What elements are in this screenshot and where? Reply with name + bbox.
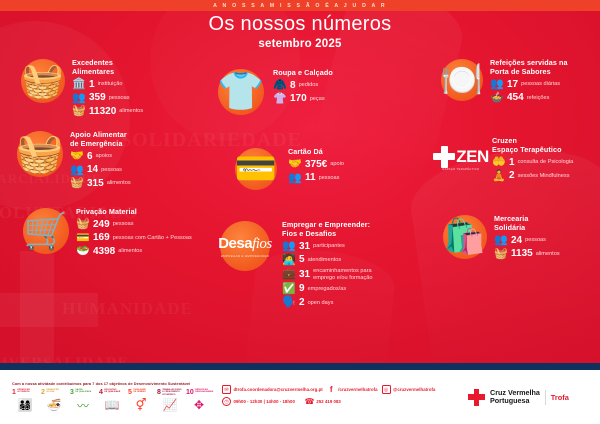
tagline-text: A N O S S A M I S S Ã O É A J U D A R (213, 3, 387, 9)
stat-row: 🗣️2open days (282, 297, 422, 308)
stats-block-roupa-e-calcado: 👕Roupa e Calçado🧥8pedidos👚170peças (215, 66, 378, 118)
sdg-goal-1: 1ERRADICAR A POBREZA👨‍👩‍👧‍👦 (12, 389, 38, 413)
stat-row: 🏛️1instituição (72, 79, 190, 90)
contact-instagram[interactable]: ◎ @cruzvermelhatrofa (382, 385, 436, 394)
people-icon: 👥 (70, 165, 84, 176)
fruit-basket-icon: 🧺 (14, 128, 66, 180)
contacts-row-2: ◷ 09h00 - 12h30 | 14h00 - 18h00 ☎ 252 41… (222, 397, 468, 406)
stat-number: 6 (87, 152, 93, 162)
sdg-goal-3: 3SAÚDE DE QUALIDADE〰 (70, 389, 96, 413)
sdg-label: REDUZIR AS DESIGUALDADES (195, 389, 213, 394)
stat-row: 🧺315alimentos (70, 178, 188, 189)
stat-row: 👥11pessoas (288, 173, 393, 184)
desafios-logo: DesafiosEMPREGAR E EMPREENDER (218, 235, 272, 258)
contacts-row-1: ✉ dtrofa.coordenadora@cruzvermelha.org.p… (222, 385, 468, 394)
stat-label: refeições (527, 95, 550, 102)
navy-divider-band (0, 363, 600, 370)
groceries-card-icon-glyph: 🛒 (24, 213, 69, 249)
block-title: Apoio Alimentar de Emergência (70, 130, 188, 148)
sdg-goal-5: 5IGUALDADE DE GÉNERO⚥ (128, 389, 154, 413)
stat-label: pedidos (299, 82, 319, 89)
food-crate-icon: 🧺 (70, 178, 84, 189)
hanger-icon: 🧥 (273, 80, 287, 91)
stat-row: 🤝375€apoio (288, 159, 393, 170)
cruzen-zen-logo: ZENESPAÇO TERAPÊUTICO (433, 146, 489, 171)
stats-block-refeicoes-porta-de-sabores: 🍽️Refeições servidas na Porta de Sabores… (438, 56, 600, 104)
stat-label: atendimentos (308, 257, 342, 264)
stat-label: peças (310, 96, 325, 103)
stat-label: alimentos (118, 248, 142, 255)
stat-label: encaminhamentos para emprego e/ou formaç… (313, 268, 372, 281)
stat-row: 👚170peças (273, 94, 378, 105)
brand-name: Cruz Vermelha Portuguesa (490, 389, 540, 406)
sdg-number: 10 (186, 389, 194, 396)
block-title: Cartão Dá (288, 147, 393, 156)
sdg-number: 1 (12, 389, 16, 396)
stats-block-apoio-alimentar-emergencia: 🧺Apoio Alimentar de Emergência🤝6apoios👥1… (14, 128, 188, 189)
stat-number: 1135 (511, 249, 533, 259)
plate-cutlery-icon-glyph: 🍽️ (441, 63, 483, 97)
stat-label: alimentos (107, 180, 131, 187)
block-text-column: Mercearia Solidária👥24pessoas🧺1135alimen… (494, 212, 600, 260)
block-title: Privação Material (76, 207, 204, 216)
block-title: Empregar e Empreender: Fios e Desafios (282, 220, 422, 238)
stat-label: open days (308, 300, 334, 307)
hours-text: 09h00 - 12h30 | 14h00 - 18h00 (234, 399, 295, 404)
food-crate-icon: 🧺 (76, 219, 90, 230)
block-text-column: Privação Material🧺249pessoas💳169pessoas … (76, 205, 204, 257)
food-mix-icon: 🥗 (76, 246, 90, 257)
people-icon: 👥 (288, 173, 302, 184)
instagram-text: @cruzvermelhatrofa (393, 387, 435, 392)
sdg-label: IGUALDADE DE GÉNERO (133, 389, 145, 394)
page-subtitle: setembro 2025 (0, 38, 600, 50)
stat-label: alimentos (536, 251, 560, 258)
block-text-column: Empregar e Empreender: Fios e Desafios👥3… (282, 218, 422, 308)
sdg-label: ERRADICAR A FOME (46, 389, 58, 394)
steaming-bowl-icon: 🍜 (41, 397, 67, 413)
stat-number: 249 (93, 220, 110, 230)
heartbeat-icon: 〰 (70, 397, 96, 413)
sdg-section: Com a nossa atividade contribuímos para … (0, 381, 218, 413)
stat-number: 2 (509, 171, 515, 181)
block-text-column: Refeições servidas na Porta de Sabores👥1… (490, 56, 600, 104)
block-text-column: Excedentes Alimentares🏛️1instituição👥359… (72, 56, 190, 117)
credit-card-icon: 💳 (76, 233, 90, 244)
briefcase-arrow-icon: 💼 (282, 269, 296, 280)
email-text: dtrofa.coordenadora@cruzvermelha.org.pt (234, 387, 323, 392)
food-crate-icon: 🧺 (494, 249, 508, 260)
sdg-caption: Com a nossa atividade contribuímos para … (12, 381, 218, 386)
stat-number: 31 (299, 270, 310, 280)
stat-label: pessoas (525, 237, 546, 244)
phone-text: 252 419 083 (316, 399, 340, 404)
support-hands-icon: 🤝 (70, 151, 84, 162)
stat-number: 17 (507, 80, 518, 90)
person-speech-icon: 🗣️ (282, 297, 296, 308)
stat-number: 375€ (305, 160, 327, 170)
sdg-label: ERRADICAR A POBREZA (17, 389, 29, 394)
top-tagline-strip: A N O S S A M I S S Ã O É A J U D A R (0, 0, 600, 11)
service-desk-icon: 🧑‍💻 (282, 255, 296, 266)
stat-row: 🍲454refeições (490, 93, 600, 104)
stat-number: 5 (299, 255, 305, 265)
stats-block-excedentes-alimentares: 🧺Excedentes Alimentares🏛️1instituição👥35… (18, 56, 190, 117)
contacts-section: ✉ dtrofa.coordenadora@cruzvermelha.org.p… (218, 385, 468, 409)
contact-facebook[interactable]: f /cruzvermelhatrofa (327, 385, 378, 394)
stat-row: ✅9empregados/as (282, 284, 422, 295)
people-icon: 👥 (490, 79, 504, 90)
envelope-icon: ✉ (222, 385, 231, 394)
footer: Com a nossa atividade contribuímos para … (0, 370, 600, 424)
people-group-icon: 👨‍👩‍👧‍👦 (12, 397, 38, 413)
desafios-subtitle: EMPREGAR E EMPREENDER (221, 254, 269, 258)
institution-icon: 🏛️ (72, 79, 86, 90)
stat-number: 454 (507, 93, 524, 103)
sdg-label: EDUCAÇÃO DE QUALIDADE (104, 389, 120, 394)
stat-row: 🤲1consulta de Psicologia (492, 157, 600, 168)
payment-card-icon-glyph: 💳 (235, 152, 277, 186)
stat-number: 169 (93, 233, 110, 243)
gender-equality-icon: ⚥ (128, 397, 154, 413)
sdg-label: SAÚDE DE QUALIDADE (75, 389, 91, 394)
contact-phone[interactable]: ☎ 252 419 083 (305, 397, 341, 406)
check-circle-icon: ✅ (282, 284, 296, 295)
payment-card-icon: 💳 (232, 145, 280, 193)
stats-block-empregar-e-empreender: DesafiosEMPREGAR E EMPREENDEREmpregar e … (212, 218, 422, 308)
stat-row: 🧘2sessões Mindfulness (492, 171, 600, 182)
contact-hours: ◷ 09h00 - 12h30 | 14h00 - 18h00 (222, 397, 295, 406)
stat-number: 31 (299, 242, 310, 252)
stat-number: 14 (87, 165, 98, 175)
desafios-script: fios (252, 236, 272, 252)
stat-label: alimentos (119, 108, 143, 115)
brand-divider (545, 390, 546, 405)
stat-row: 🧺1135alimentos (494, 249, 600, 260)
soup-bowl-icon: 🍲 (490, 93, 504, 104)
block-title: Roupa e Calçado (273, 68, 378, 77)
stats-block-cruzen-espaco-terapeutico: ZENESPAÇO TERAPÊUTICOCruzen Espaço Terap… (434, 134, 600, 182)
desafios-logo: DesafiosEMPREGAR E EMPREENDER (212, 218, 278, 274)
stat-number: 2 (299, 298, 305, 308)
block-text-column: Apoio Alimentar de Emergência🤝6apoios👥14… (70, 128, 188, 189)
stat-label: pessoas (319, 175, 340, 182)
food-crate-icon: 🧺 (72, 106, 86, 117)
stat-number: 170 (290, 94, 307, 104)
stat-number: 359 (89, 93, 106, 103)
food-basket-icon-glyph: 🧺 (22, 64, 64, 98)
stats-block-cartao-da: 💳Cartão Dá🤝375€apoio👥11pessoas (232, 145, 393, 193)
zen-subtitle: ESPAÇO TERAPÊUTICO (433, 168, 489, 171)
meditation-icon: 🧘 (492, 171, 506, 182)
header: Os nossos números setembro 2025 (0, 13, 600, 50)
infographic-page: A N O S S A M I S S Ã O É A J U D A R SO… (0, 0, 600, 424)
contact-email[interactable]: ✉ dtrofa.coordenadora@cruzvermelha.org.p… (222, 385, 323, 394)
stat-row: 🧥8pedidos (273, 80, 378, 91)
clothing-icon-glyph: 👕 (217, 73, 264, 111)
zen-wordmark: ZEN (456, 147, 489, 167)
telephone-icon: ☎ (305, 397, 314, 406)
stat-row: 👥14pessoas (70, 165, 188, 176)
stat-row: 👥31participantes (282, 241, 422, 252)
sdg-number: 4 (99, 389, 103, 396)
stat-row: 🧺11320alimentos (72, 106, 190, 117)
sdg-label: TRABALHO DIGNO E CRESCIMENTO ECONÓMICO (162, 389, 181, 396)
groceries-card-icon: 🛒 (20, 205, 72, 257)
block-text-column: Roupa e Calçado🧥8pedidos👚170peças (273, 66, 378, 105)
page-title: Os nossos números (0, 13, 600, 35)
stat-row: 💼31encaminhamentos para emprego e/ou for… (282, 268, 422, 281)
stat-number: 315 (87, 179, 104, 189)
sdg-number: 8 (157, 389, 161, 396)
brand-location: Trofa (551, 393, 569, 402)
desafios-main: Desa (218, 235, 252, 252)
stat-row: 👥24pessoas (494, 235, 600, 246)
block-title: Refeições servidas na Porta de Sabores (490, 58, 600, 76)
plate-cutlery-icon: 🍽️ (438, 56, 486, 104)
stat-label: pessoas diárias (521, 81, 560, 88)
open-book-icon: 📖 (99, 397, 125, 413)
desafios-wordmark: Desafios (218, 235, 272, 253)
sdg-goal-2: 2ERRADICAR A FOME🍜 (41, 389, 67, 413)
bg-cross-horizontal (0, 293, 98, 327)
sdg-goal-10: 10REDUZIR AS DESIGUALDADES✥ (186, 389, 212, 413)
people-icon: 👥 (494, 235, 508, 246)
red-cross-icon (433, 146, 455, 168)
stat-row: 💳169pessoas com Cartão + Pessoas (76, 233, 204, 244)
stat-label: pessoas com Cartão + Pessoas (113, 235, 192, 242)
stat-row: 👥17pessoas diárias (490, 79, 600, 90)
fruit-basket-icon-glyph: 🧺 (16, 135, 63, 173)
block-title: Cruzen Espaço Terapêutico (492, 136, 600, 154)
caring-hands-icon: 🤲 (492, 157, 506, 168)
growth-chart-icon: 📈 (157, 397, 183, 413)
stat-label: apoio (330, 161, 344, 168)
stat-number: 11 (305, 173, 316, 183)
block-title: Excedentes Alimentares (72, 58, 190, 76)
stat-number: 1 (89, 80, 95, 90)
stat-row: 🧺249pessoas (76, 219, 204, 230)
stats-block-privacao-material: 🛒Privação Material🧺249pessoas💳169pessoas… (20, 205, 204, 257)
stat-label: apoios (96, 153, 112, 160)
stat-number: 1 (509, 158, 515, 168)
red-cross-icon (468, 389, 485, 406)
brand-logo: Cruz Vermelha Portuguesa Trofa (468, 389, 600, 406)
stat-row: 🥗4398alimentos (76, 246, 204, 257)
stat-label: sessões Mindfulness (518, 173, 570, 180)
instagram-icon: ◎ (382, 385, 391, 394)
watermark-text: HUMANIDADE (62, 299, 193, 319)
stat-label: instituição (98, 81, 123, 88)
food-basket-icon: 🧺 (18, 56, 68, 106)
sdg-goal-list: 1ERRADICAR A POBREZA👨‍👩‍👧‍👦2ERRADICAR A … (12, 389, 218, 413)
stat-row: 👥359pessoas (72, 93, 190, 104)
stat-number: 8 (290, 81, 296, 91)
sdg-number: 3 (70, 389, 74, 396)
stat-number: 4398 (93, 247, 115, 257)
sdg-goal-4: 4EDUCAÇÃO DE QUALIDADE📖 (99, 389, 125, 413)
bg-cross-vertical (20, 251, 54, 371)
cruzen-zen-logo: ZENESPAÇO TERAPÊUTICO (434, 134, 488, 182)
clock-icon: ◷ (222, 397, 231, 406)
sdg-number: 5 (128, 389, 132, 396)
sdg-number: 2 (41, 389, 45, 396)
stats-block-mercearia-solidaria: 🛍️Mercearia Solidária👥24pessoas🧺1135alim… (440, 212, 600, 262)
support-hands-icon: 🤝 (288, 159, 302, 170)
stat-row: 🧑‍💻5atendimentos (282, 255, 422, 266)
block-text-column: Cruzen Espaço Terapêutico🤲1consulta de P… (492, 134, 600, 182)
clothing-icon: 👕 (215, 66, 267, 118)
facebook-icon: f (327, 385, 336, 394)
facebook-text: /cruzvermelhatrofa (338, 387, 377, 392)
block-text-column: Cartão Dá🤝375€apoio👥11pessoas (288, 145, 393, 184)
grocery-bag-heart-icon: 🛍️ (440, 212, 490, 262)
stat-row: 🤝6apoios (70, 151, 188, 162)
stat-label: pessoas (101, 167, 122, 174)
people-icon: 👥 (72, 93, 86, 104)
stat-number: 24 (511, 236, 522, 246)
equal-arrows-icon: ✥ (186, 397, 212, 413)
people-icon: 👥 (282, 241, 296, 252)
stat-number: 11320 (89, 107, 116, 117)
stat-label: pessoas (109, 95, 130, 102)
stat-label: empregados/as (308, 286, 347, 293)
stat-label: pessoas (113, 221, 134, 228)
stat-label: participantes (313, 243, 345, 250)
wardrobe-icon: 👚 (273, 94, 287, 105)
stat-number: 9 (299, 284, 305, 294)
stat-label: consulta de Psicologia (518, 159, 574, 166)
grocery-bag-heart-icon-glyph: 🛍️ (444, 220, 486, 254)
block-title: Mercearia Solidária (494, 214, 600, 232)
sdg-goal-8: 8TRABALHO DIGNO E CRESCIMENTO ECONÓMICO📈 (157, 389, 183, 413)
